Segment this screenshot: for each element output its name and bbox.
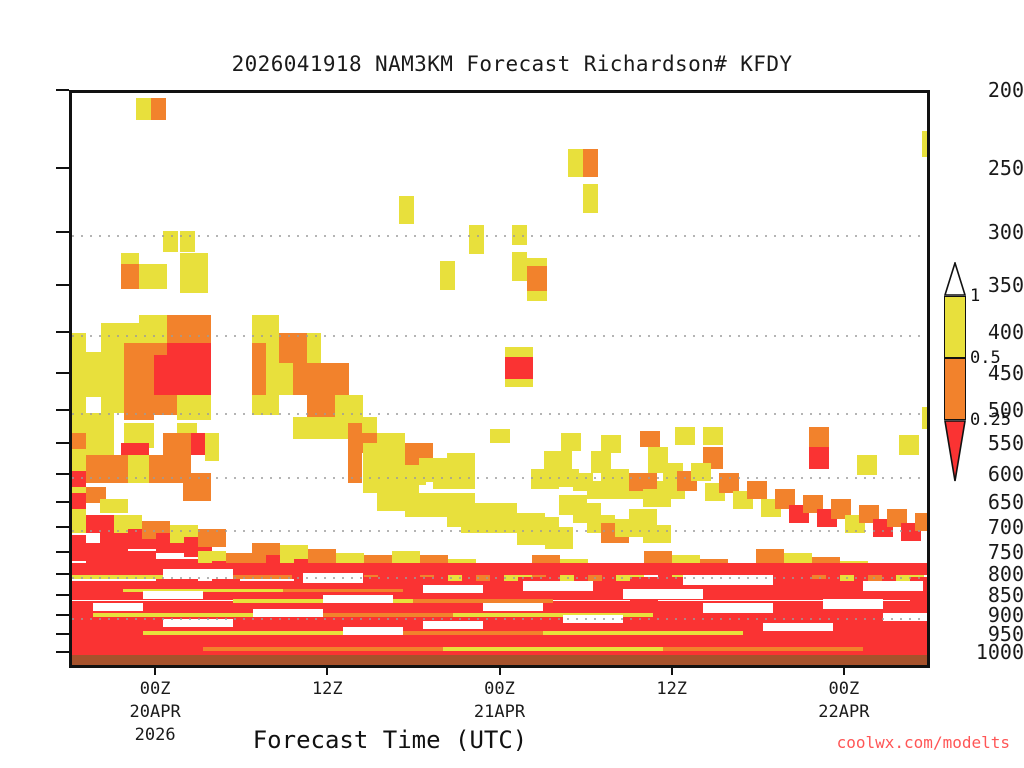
heatmap-cell xyxy=(139,264,167,289)
heatmap-gap xyxy=(93,603,143,611)
page-title: 2026041918 NAM3KM Forecast Richardson# K… xyxy=(0,52,1024,76)
x-tick-time: 00Z xyxy=(430,678,570,701)
heatmap-gap xyxy=(823,599,883,609)
x-tick-mark xyxy=(326,668,328,675)
heatmap-cell xyxy=(177,395,211,420)
heatmap-cell xyxy=(124,343,154,395)
watermark: coolwx.com/modelts xyxy=(837,733,1010,752)
heatmap-cell xyxy=(124,395,154,420)
colorbar-cap-bottom xyxy=(944,420,966,482)
y-tick-mark xyxy=(56,594,69,596)
heatmap-cell xyxy=(86,455,128,483)
heatmap-gap xyxy=(423,585,483,593)
heatmap-cell xyxy=(191,433,205,455)
heatmap-cell xyxy=(527,258,547,266)
heatmap-cell xyxy=(469,225,484,254)
heatmap-cell xyxy=(72,449,86,471)
terrain-band xyxy=(72,655,927,665)
heatmap-gap xyxy=(483,603,543,611)
heatmap-cell xyxy=(101,323,139,343)
heatmap-cell xyxy=(527,266,547,291)
heatmap-cell xyxy=(643,525,671,543)
y-tick-mark xyxy=(56,573,69,575)
y-tick-mark xyxy=(56,284,69,286)
heatmap-cell xyxy=(163,433,191,455)
gridline xyxy=(72,413,927,415)
heatmap-gap xyxy=(253,609,323,617)
heatmap-gap xyxy=(343,627,403,635)
x-tick-time: 12Z xyxy=(257,678,397,701)
heatmap-cell xyxy=(531,469,559,489)
heatmap-cell xyxy=(747,481,767,499)
heatmap-cell xyxy=(809,427,829,447)
y-tick-mark xyxy=(56,167,69,169)
x-tick-mark xyxy=(154,668,156,675)
heatmap-canvas xyxy=(72,93,927,665)
heatmap-cell xyxy=(101,378,124,413)
colorbar-band xyxy=(944,296,966,358)
heatmap-cell xyxy=(72,352,86,395)
x-tick-label: 12Z xyxy=(602,678,742,701)
heatmap-gap xyxy=(523,581,593,591)
y-tick-label: 600 xyxy=(970,462,1024,486)
heatmap-cell xyxy=(154,355,211,395)
heatmap-cell xyxy=(915,513,927,531)
heatmap-cell xyxy=(505,357,533,379)
x-tick-mark xyxy=(499,668,501,675)
y-tick-label: 650 xyxy=(970,490,1024,514)
heatmap-cell xyxy=(601,435,621,453)
y-tick-mark xyxy=(56,442,69,444)
colorbar-tick-label: 0.25 xyxy=(970,410,1011,430)
heatmap-cell xyxy=(348,423,362,463)
x-tick-mark xyxy=(843,668,845,675)
y-tick-mark xyxy=(56,231,69,233)
heatmap-cell xyxy=(377,433,405,453)
colorbar-band xyxy=(944,358,966,420)
heatmap-cell xyxy=(121,253,139,264)
heatmap-cell xyxy=(809,447,829,469)
heatmap-cell xyxy=(321,363,349,395)
heatmap-gap xyxy=(423,621,483,629)
heatmap-cell xyxy=(121,264,139,289)
heatmap-cell xyxy=(167,315,193,343)
heatmap-cell xyxy=(100,499,128,513)
heatmap-stripe xyxy=(72,635,927,643)
heatmap-cell xyxy=(72,535,86,561)
heatmap-cell xyxy=(180,253,208,293)
heatmap-cell xyxy=(167,343,211,355)
y-tick-label: 300 xyxy=(970,220,1024,244)
heatmap-cell xyxy=(193,315,211,343)
gridline xyxy=(72,477,927,479)
y-tick-mark xyxy=(56,526,69,528)
x-tick-time: 00Z xyxy=(85,678,225,701)
heatmap-cell xyxy=(583,184,598,213)
heatmap-cell xyxy=(252,315,279,343)
y-tick-mark xyxy=(56,501,69,503)
heatmap-cell xyxy=(279,333,307,363)
heatmap-cell xyxy=(583,149,598,177)
colorbar-tick-label: 0.5 xyxy=(970,348,1001,368)
heatmap-cell xyxy=(86,352,101,397)
x-tick-time: 00Z xyxy=(774,678,914,701)
colorbar-cap-top xyxy=(944,262,966,296)
heatmap-cell xyxy=(640,431,660,447)
y-tick-label: 200 xyxy=(970,78,1024,102)
heatmap-cell xyxy=(205,433,219,461)
heatmap-cell xyxy=(527,291,547,301)
heatmap-cell xyxy=(922,407,927,429)
heatmap-cell xyxy=(151,98,166,120)
heatmap-cell xyxy=(293,363,321,395)
x-tick-date: 22APR xyxy=(774,701,914,724)
heatmap-cell xyxy=(72,509,86,533)
heatmap-gap xyxy=(623,589,703,599)
x-tick-date: 21APR xyxy=(430,701,570,724)
x-tick-label: 00Z22APR xyxy=(774,678,914,724)
heatmap-cell xyxy=(490,429,510,443)
heatmap-gap xyxy=(763,623,833,631)
heatmap-cell xyxy=(398,465,426,485)
x-tick-label: 12Z xyxy=(257,678,397,701)
heatmap-cell xyxy=(293,417,335,439)
y-tick-mark xyxy=(56,89,69,91)
y-tick-mark xyxy=(56,372,69,374)
y-tick-mark xyxy=(56,651,69,653)
heatmap-gap xyxy=(323,595,393,603)
heatmap-cell xyxy=(675,427,695,445)
y-tick-mark xyxy=(56,409,69,411)
y-tick-mark xyxy=(56,633,69,635)
heatmap-cell xyxy=(447,453,475,473)
x-tick-mark xyxy=(671,668,673,675)
gridline xyxy=(72,235,927,237)
y-tick-label: 750 xyxy=(970,540,1024,564)
heatmap-cell xyxy=(252,343,266,395)
colorbar-tick-label: 1 xyxy=(970,286,980,306)
chart-root: 2026041918 NAM3KM Forecast Richardson# K… xyxy=(0,0,1024,768)
x-tick-date: 20APR xyxy=(85,701,225,724)
y-tick-label: 1000 xyxy=(970,640,1024,664)
plot-area xyxy=(69,90,930,668)
gridline xyxy=(72,577,927,579)
y-tick-mark xyxy=(56,473,69,475)
colorbar: 10.50.25 xyxy=(944,296,966,486)
y-tick-label: 550 xyxy=(970,431,1024,455)
heatmap-cell xyxy=(505,347,533,357)
heatmap-cell xyxy=(899,435,919,455)
heatmap-cell xyxy=(307,333,321,363)
heatmap-cell xyxy=(399,196,414,224)
heatmap-cell xyxy=(348,463,362,483)
heatmap-cell xyxy=(703,427,723,445)
heatmap-stripe xyxy=(283,589,403,592)
heatmap-cell xyxy=(101,343,124,378)
gridline xyxy=(72,530,927,532)
heatmap-cell xyxy=(139,315,167,343)
y-tick-mark xyxy=(56,614,69,616)
heatmap-cell xyxy=(440,261,455,290)
heatmap-gap xyxy=(703,603,773,613)
heatmap-cell xyxy=(568,149,583,177)
heatmap-cell xyxy=(922,131,927,157)
y-tick-mark xyxy=(56,551,69,553)
heatmap-cell xyxy=(512,252,527,281)
gridline xyxy=(72,618,927,620)
x-tick-label: 00Z21APR xyxy=(430,678,570,724)
heatmap-gap xyxy=(143,591,203,599)
heatmap-cell xyxy=(561,433,581,451)
heatmap-cell xyxy=(136,98,151,120)
x-axis-title: Forecast Time (UTC) xyxy=(0,726,780,754)
x-tick-time: 12Z xyxy=(602,678,742,701)
gridline xyxy=(72,335,927,337)
y-tick-label: 700 xyxy=(970,515,1024,539)
y-tick-label: 250 xyxy=(970,156,1024,180)
y-tick-label: 400 xyxy=(970,320,1024,344)
heatmap-gap xyxy=(863,581,923,591)
heatmap-cell xyxy=(857,455,877,475)
heatmap-cell xyxy=(505,379,533,387)
y-tick-mark xyxy=(56,331,69,333)
